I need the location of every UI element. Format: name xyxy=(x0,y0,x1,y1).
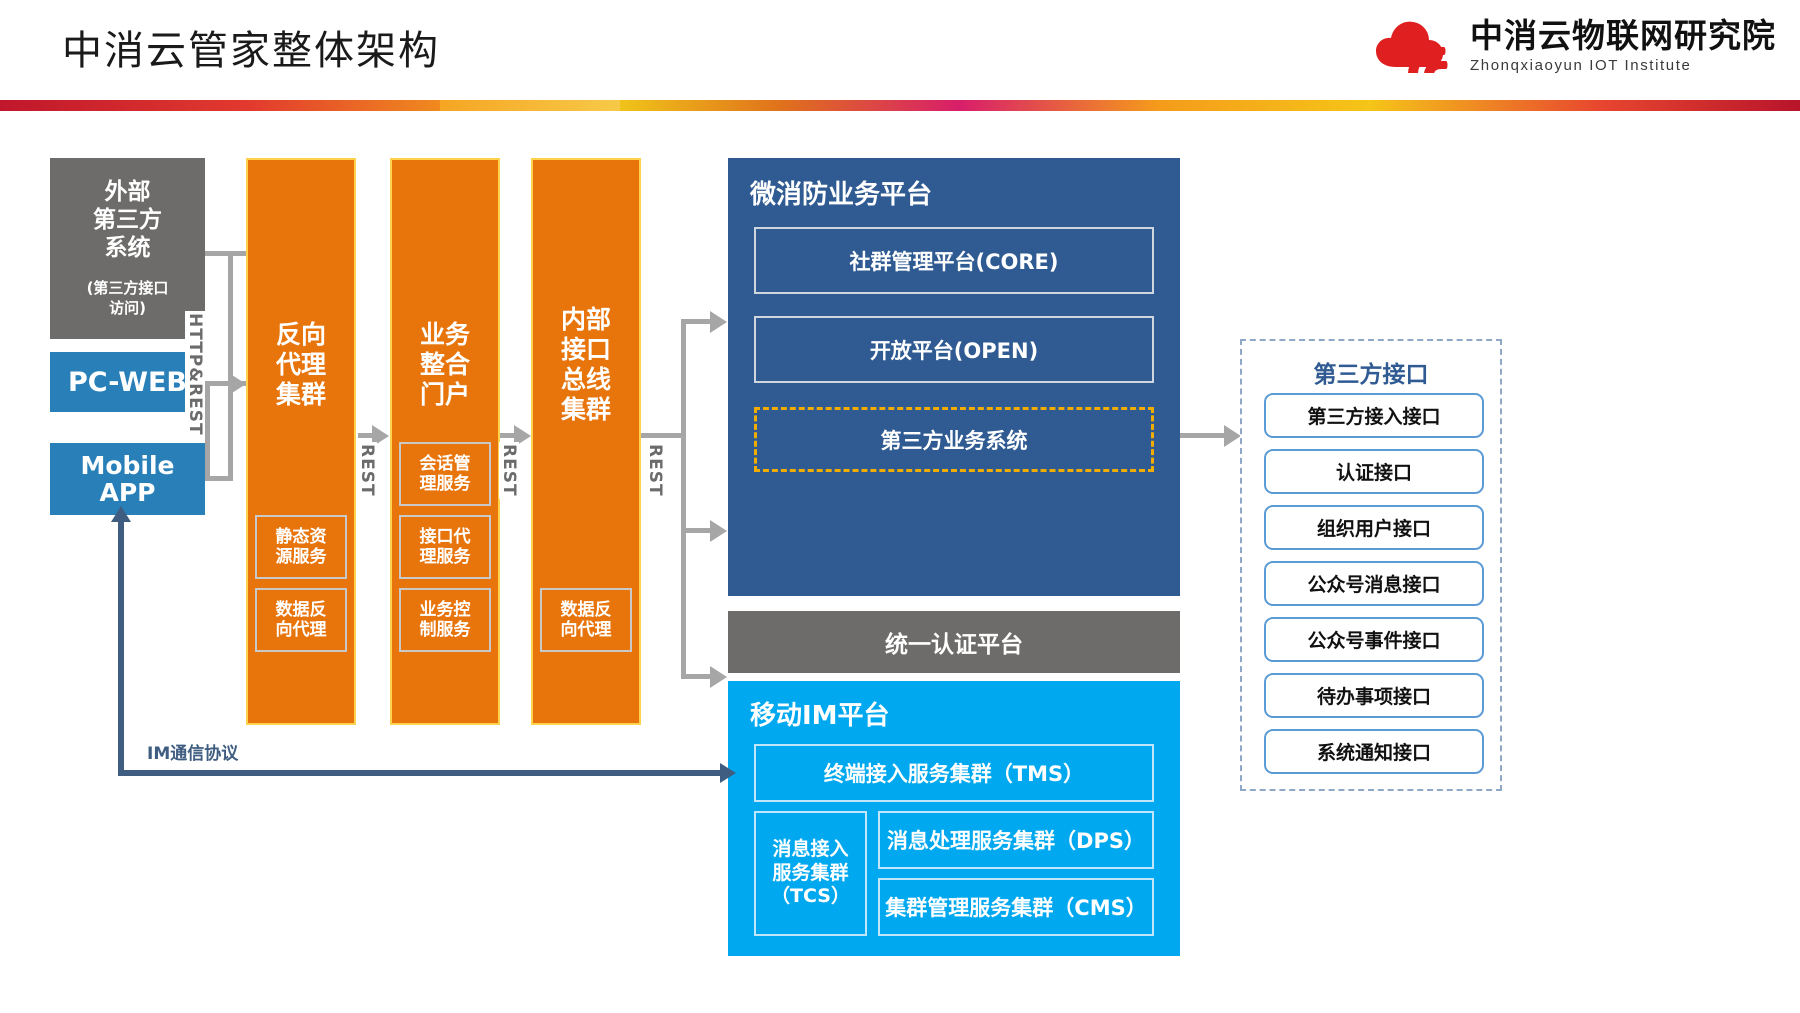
label-rest-1: REST xyxy=(357,442,377,499)
external-system-note1: (第三方接口 xyxy=(87,280,169,297)
label-http-rest: HTTP&REST xyxy=(185,311,205,438)
connector-to-proxy xyxy=(205,381,210,481)
unified-auth-platform-box[interactable]: 统一认证平台 xyxy=(728,611,1180,673)
reverse-proxy-title: 反向 代理 集群 xyxy=(248,320,354,410)
third-party-business-system[interactable]: 第三方业务系统 xyxy=(754,407,1154,472)
data-reverse-proxy-service-box-2[interactable]: 数据反 向代理 xyxy=(540,588,632,652)
business-platform-title: 微消防业务平台 xyxy=(750,174,932,211)
connector-ext-vertical xyxy=(228,251,233,481)
label-rest-3: REST xyxy=(645,442,665,499)
terminal-access-service-cluster-tms[interactable]: 终端接入服务集群（TMS） xyxy=(754,744,1154,802)
connector-to-auth-platform xyxy=(681,528,711,533)
business-integration-portal-column[interactable]: 业务 整合 门户 会话管 理服务 接口代 理服务 业务控 制服务 xyxy=(390,158,500,725)
mobile-im-platform-panel[interactable]: 移动IM平台 终端接入服务集群（TMS） 消息接入 服务集群 （TCS） 消息处… xyxy=(728,681,1180,956)
business-control-service-box[interactable]: 业务控 制服务 xyxy=(399,588,491,652)
interface-proxy-service-box[interactable]: 接口代 理服务 xyxy=(399,515,491,579)
connector-bus-trunk-horizontal xyxy=(641,433,686,438)
logo-chinese-name: 中消云物联网研究院 xyxy=(1470,19,1776,54)
external-system-line2: 第三方 xyxy=(93,208,162,234)
label-im-protocol: IM通信协议 xyxy=(147,739,238,764)
connector-bus-trunk-vertical xyxy=(681,319,686,679)
logo-english-name: Zhonqxiaoyun IOT Institute xyxy=(1470,56,1776,76)
page-title: 中消云管家整体架构 xyxy=(62,18,440,76)
business-portal-title: 业务 整合 门户 xyxy=(392,320,498,410)
tp-item-org-user[interactable]: 组织用户接口 xyxy=(1264,505,1484,550)
arrow-im-protocol-up xyxy=(111,506,131,522)
tp-item-auth[interactable]: 认证接口 xyxy=(1264,449,1484,494)
tp-item-official-msg[interactable]: 公众号消息接口 xyxy=(1264,561,1484,606)
slide-header: 中消云管家整体架构 中消云物联网研究院 Zhonqxiaoyun IOT Ins… xyxy=(0,0,1800,100)
red-cloud-wifi-logo-icon xyxy=(1374,17,1456,77)
header-divider xyxy=(0,100,1800,111)
static-resource-service-box[interactable]: 静态资 源服务 xyxy=(255,515,347,579)
im-protocol-vertical xyxy=(118,519,124,773)
arrow-im-protocol-right xyxy=(720,763,736,783)
internal-bus-title: 内部 接口 总线 集群 xyxy=(533,305,639,425)
label-rest-2: REST xyxy=(499,442,519,499)
reverse-proxy-cluster-column[interactable]: 反向 代理 集群 静态资 源服务 数据反 向代理 xyxy=(246,158,356,725)
slide-page: 中消云管家整体架构 中消云物联网研究院 Zhonqxiaoyun IOT Ins… xyxy=(0,0,1800,1013)
connector-to-im-platform xyxy=(681,674,711,679)
mobile-app-box[interactable]: Mobile APP xyxy=(50,443,205,515)
data-reverse-proxy-service-box-1[interactable]: 数据反 向代理 xyxy=(255,588,347,652)
architecture-diagram: 外部 第三方 系统 (第三方接口 访问) PC-WEB Mobile APP H… xyxy=(0,111,1800,1013)
tp-item-todo[interactable]: 待办事项接口 xyxy=(1264,673,1484,718)
mobile-app-line2: APP xyxy=(100,479,156,507)
business-platform-panel[interactable]: 微消防业务平台 社群管理平台(CORE) 开放平台(OPEN) 第三方业务系统 xyxy=(728,158,1180,596)
arrow-to-im-platform xyxy=(710,666,727,688)
im-protocol-horizontal xyxy=(118,770,724,776)
mobile-app-line1: Mobile xyxy=(80,452,174,480)
arrow-to-auth-platform xyxy=(710,520,727,542)
arrow-to-business-platform xyxy=(710,311,727,333)
external-system-note2: 访问) xyxy=(109,300,146,317)
message-processing-service-cluster-dps[interactable]: 消息处理服务集群（DPS） xyxy=(878,811,1154,869)
arrow-to-third-party-panel xyxy=(1224,425,1241,447)
brand-logo: 中消云物联网研究院 Zhonqxiaoyun IOT Institute xyxy=(1374,16,1776,78)
cluster-management-service-cluster-cms[interactable]: 集群管理服务集群（CMS） xyxy=(878,878,1154,936)
connector-to-business-platform xyxy=(681,319,711,324)
tp-item-third-party-access[interactable]: 第三方接入接口 xyxy=(1264,393,1484,438)
third-party-panel-title: 第三方接口 xyxy=(1242,355,1500,389)
tp-item-system-notify[interactable]: 系统通知接口 xyxy=(1264,729,1484,774)
pc-web-box[interactable]: PC-WEB xyxy=(50,352,205,412)
arrow-into-proxy xyxy=(229,373,246,395)
message-access-service-cluster-tcs[interactable]: 消息接入 服务集群 （TCS） xyxy=(754,811,867,936)
logo-text-block: 中消云物联网研究院 Zhonqxiaoyun IOT Institute xyxy=(1470,19,1776,75)
im-platform-title: 移动IM平台 xyxy=(750,695,890,732)
community-management-platform-core[interactable]: 社群管理平台(CORE) xyxy=(754,227,1154,294)
session-management-service-box[interactable]: 会话管 理服务 xyxy=(399,442,491,506)
external-system-line3: 系统 xyxy=(105,236,151,262)
internal-interface-bus-cluster-column[interactable]: 内部 接口 总线 集群 数据反 向代理 xyxy=(531,158,641,725)
external-third-party-system-box[interactable]: 外部 第三方 系统 (第三方接口 访问) xyxy=(50,158,205,339)
external-system-line1: 外部 xyxy=(105,180,151,206)
open-platform-open[interactable]: 开放平台(OPEN) xyxy=(754,316,1154,383)
third-party-interface-panel[interactable]: 第三方接口 第三方接入接口 认证接口 组织用户接口 公众号消息接口 公众号事件接… xyxy=(1240,339,1502,791)
tp-item-official-event[interactable]: 公众号事件接口 xyxy=(1264,617,1484,662)
connector-to-third-party-panel xyxy=(1180,433,1228,438)
